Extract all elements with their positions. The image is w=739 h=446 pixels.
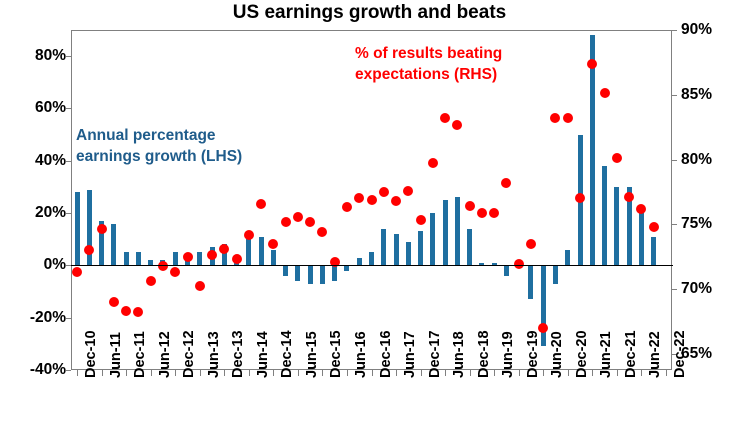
bar xyxy=(590,35,595,265)
scatter-point xyxy=(649,222,659,232)
x-axis-tick-mark xyxy=(273,370,274,376)
x-axis-tick-mark xyxy=(421,370,422,376)
scatter-point xyxy=(146,276,156,286)
x-axis-tick-label: Dec-19 xyxy=(525,330,541,378)
bar xyxy=(651,237,656,266)
left-axis-tick: -40% xyxy=(0,370,66,388)
x-axis-tick-label: Jun-13 xyxy=(206,331,222,378)
right-axis-tick-mark xyxy=(672,30,677,31)
bar xyxy=(504,265,509,275)
chart-title: US earnings growth and beats xyxy=(0,2,739,24)
right-axis-tick: 70% xyxy=(681,289,739,307)
x-axis-tick-mark xyxy=(666,370,667,376)
x-axis-tick-label: Dec-21 xyxy=(623,330,639,378)
x-axis-tick-label: Dec-11 xyxy=(132,331,148,378)
x-axis-tick-label: Jun-19 xyxy=(500,331,516,378)
bar xyxy=(246,239,251,265)
left-axis-tick-mark xyxy=(66,56,71,57)
left-axis-tick-mark xyxy=(66,318,71,319)
scatter-point xyxy=(477,208,487,218)
bar xyxy=(467,229,472,266)
bar xyxy=(283,265,288,275)
bar xyxy=(381,229,386,266)
x-axis-tick-label: Dec-18 xyxy=(476,330,492,378)
bar xyxy=(75,192,80,265)
x-axis-tick-mark xyxy=(543,370,544,376)
x-axis-tick-mark xyxy=(568,370,569,376)
x-axis-tick-mark xyxy=(396,370,397,376)
bar xyxy=(553,265,558,283)
x-axis-tick-label: Dec-16 xyxy=(378,330,394,378)
scatter-point xyxy=(305,217,315,227)
left-axis-tick-label: 0% xyxy=(0,256,66,274)
x-axis-tick-label: Dec-12 xyxy=(181,330,197,378)
scatter-point xyxy=(416,215,426,225)
bar xyxy=(295,265,300,281)
bar xyxy=(357,258,362,266)
x-axis-tick-mark xyxy=(77,370,78,376)
x-axis-tick-label: Dec-14 xyxy=(279,330,295,378)
legend-label-lhs: Annual percentage earnings growth (LHS) xyxy=(76,126,242,168)
x-axis-tick-mark xyxy=(519,370,520,376)
x-axis-tick-mark xyxy=(494,370,495,376)
left-axis-tick-label: -20% xyxy=(0,309,66,327)
x-axis-tick-label: Jun-20 xyxy=(549,331,565,378)
x-axis-tick-label: Dec-20 xyxy=(574,330,590,378)
bar xyxy=(541,265,546,346)
left-axis-tick: 60% xyxy=(0,108,66,126)
bar xyxy=(124,252,129,265)
x-axis-tick-mark xyxy=(224,370,225,376)
scatter-point xyxy=(367,195,377,205)
bar xyxy=(406,242,411,266)
scatter-point xyxy=(587,59,597,69)
left-axis-tick-mark xyxy=(66,213,71,214)
x-axis-tick-mark xyxy=(102,370,103,376)
bar xyxy=(394,234,399,265)
scatter-point xyxy=(244,230,254,240)
right-axis-tick-mark xyxy=(672,160,677,161)
bar xyxy=(602,166,607,265)
right-axis-tick: 80% xyxy=(681,160,739,178)
right-axis-tick-label: 80% xyxy=(681,151,739,169)
scatter-point xyxy=(526,239,536,249)
scatter-point xyxy=(183,252,193,262)
scatter-point xyxy=(391,196,401,206)
x-axis-tick-label: Dec-22 xyxy=(672,330,688,378)
left-axis-tick: -20% xyxy=(0,318,66,336)
x-axis-tick-mark xyxy=(249,370,250,376)
bar xyxy=(308,265,313,283)
right-axis-tick-mark xyxy=(672,95,677,96)
bar xyxy=(639,208,644,266)
scatter-point xyxy=(256,199,266,209)
scatter-point xyxy=(403,186,413,196)
bar xyxy=(614,187,619,265)
right-axis-tick-label: 85% xyxy=(681,86,739,104)
bar xyxy=(418,231,423,265)
left-axis-tick-label: 40% xyxy=(0,152,66,170)
x-axis-tick-mark xyxy=(445,370,446,376)
x-axis-tick-mark xyxy=(592,370,593,376)
scatter-point xyxy=(612,153,622,163)
x-axis-tick-mark xyxy=(298,370,299,376)
x-axis-tick-label: Jun-18 xyxy=(451,331,467,378)
scatter-point xyxy=(489,208,499,218)
scatter-point xyxy=(293,212,303,222)
left-axis-tick: 0% xyxy=(0,265,66,283)
bar xyxy=(565,250,570,266)
scatter-point xyxy=(281,217,291,227)
bar xyxy=(136,252,141,265)
bar xyxy=(173,252,178,265)
right-axis-tick-label: 75% xyxy=(681,215,739,233)
x-axis-tick-label: Jun-14 xyxy=(255,331,271,378)
x-axis-tick-label: Dec-10 xyxy=(83,330,99,378)
right-axis-tick: 90% xyxy=(681,30,739,48)
bar xyxy=(271,250,276,266)
left-axis-tick-label: 20% xyxy=(0,204,66,222)
scatter-point xyxy=(452,120,462,130)
left-axis-tick-mark xyxy=(66,370,71,371)
bar xyxy=(443,200,448,265)
right-axis-tick-label: 65% xyxy=(681,345,739,363)
bar xyxy=(369,252,374,265)
x-axis-tick-label: Jun-21 xyxy=(598,331,614,378)
x-axis-tick-label: Dec-17 xyxy=(427,330,443,378)
left-axis-tick-label: -40% xyxy=(0,361,66,379)
x-axis-tick-mark xyxy=(126,370,127,376)
left-axis-tick-label: 60% xyxy=(0,99,66,117)
bar xyxy=(259,237,264,266)
left-axis-tick-label: 80% xyxy=(0,47,66,65)
x-axis-tick-mark xyxy=(617,370,618,376)
x-axis-tick-mark xyxy=(372,370,373,376)
right-axis-tick: 65% xyxy=(681,354,739,372)
chart-container: US earnings growth and beats -40%-20%0%2… xyxy=(0,0,739,446)
left-axis-tick-mark xyxy=(66,108,71,109)
bar xyxy=(455,197,460,265)
left-axis-tick: 40% xyxy=(0,161,66,179)
bar xyxy=(332,265,337,281)
scatter-point xyxy=(379,187,389,197)
x-axis-tick-label: Jun-12 xyxy=(157,331,173,378)
legend-label-rhs: % of results beating expectations (RHS) xyxy=(355,44,502,86)
x-axis-tick-mark xyxy=(322,370,323,376)
bar xyxy=(320,265,325,283)
x-axis-tick-label: Jun-11 xyxy=(108,332,124,378)
left-axis-tick-mark xyxy=(66,161,71,162)
x-axis-tick-label: Jun-22 xyxy=(647,331,663,378)
right-axis-tick-mark xyxy=(672,224,677,225)
x-axis-tick-mark xyxy=(641,370,642,376)
x-axis-tick-mark xyxy=(151,370,152,376)
x-axis-tick-mark xyxy=(175,370,176,376)
x-axis-tick-mark xyxy=(470,370,471,376)
bar xyxy=(197,252,202,265)
x-axis-tick-label: Jun-15 xyxy=(304,331,320,378)
scatter-point xyxy=(109,297,119,307)
right-axis-tick-mark xyxy=(672,289,677,290)
right-axis-tick: 85% xyxy=(681,95,739,113)
x-axis-tick-label: Dec-15 xyxy=(328,330,344,378)
scatter-point xyxy=(600,88,610,98)
right-axis-tick-label: 90% xyxy=(681,21,739,39)
bar xyxy=(111,224,116,266)
bar xyxy=(528,265,533,299)
scatter-point xyxy=(232,254,242,264)
left-axis-tick: 20% xyxy=(0,213,66,231)
scatter-point xyxy=(563,113,573,123)
zero-baseline xyxy=(71,265,673,266)
right-axis-tick-label: 70% xyxy=(681,280,739,298)
x-axis-tick-label: Jun-17 xyxy=(402,331,418,378)
scatter-point xyxy=(465,201,475,211)
right-axis-tick: 75% xyxy=(681,224,739,242)
bar xyxy=(430,213,435,265)
x-axis-tick-mark xyxy=(200,370,201,376)
x-axis-tick-label: Jun-16 xyxy=(353,331,369,378)
left-axis-tick: 80% xyxy=(0,56,66,74)
x-axis-tick-label: Dec-13 xyxy=(230,330,246,378)
x-axis-tick-mark xyxy=(347,370,348,376)
